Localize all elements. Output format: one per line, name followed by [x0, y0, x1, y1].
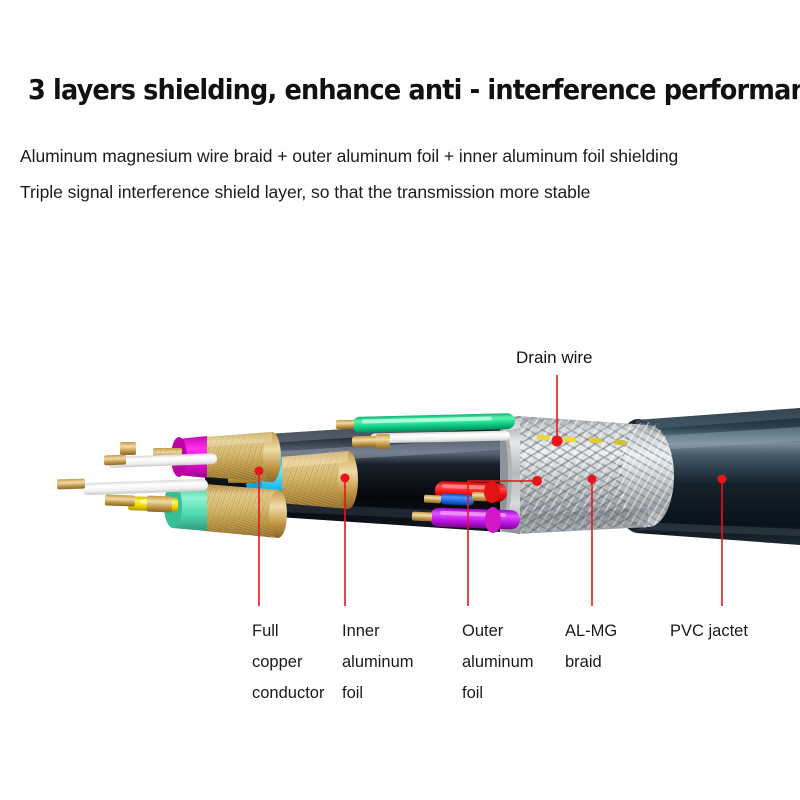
callout-line: aluminum [462, 647, 534, 678]
callout-line: copper [252, 647, 324, 678]
callout-line: aluminum [342, 647, 414, 678]
callout-line: braid [565, 647, 617, 678]
callout-label-full-copper-conductor: Full copper conductor [252, 616, 324, 709]
callout-line: AL-MG [565, 616, 617, 647]
callout-label-drain-wire: Drain wire [516, 348, 593, 368]
callout-line: Inner [342, 616, 414, 647]
callout-line: foil [462, 678, 534, 709]
page-root: 3 layers shielding, enhance anti - inter… [0, 0, 800, 800]
callout-line: foil [342, 678, 414, 709]
callout-line: conductor [252, 678, 324, 709]
callout-line: PVC jactet [670, 616, 748, 647]
callout-line: Outer [462, 616, 534, 647]
callout-label-pvc-jacket: PVC jactet [670, 616, 748, 647]
callout-line: Full [252, 616, 324, 647]
callout-label-inner-aluminum-foil: Inner aluminum foil [342, 616, 414, 709]
callout-label-outer-aluminum-foil: Outer aluminum foil [462, 616, 534, 709]
callout-label-al-mg-braid: AL-MG braid [565, 616, 617, 678]
